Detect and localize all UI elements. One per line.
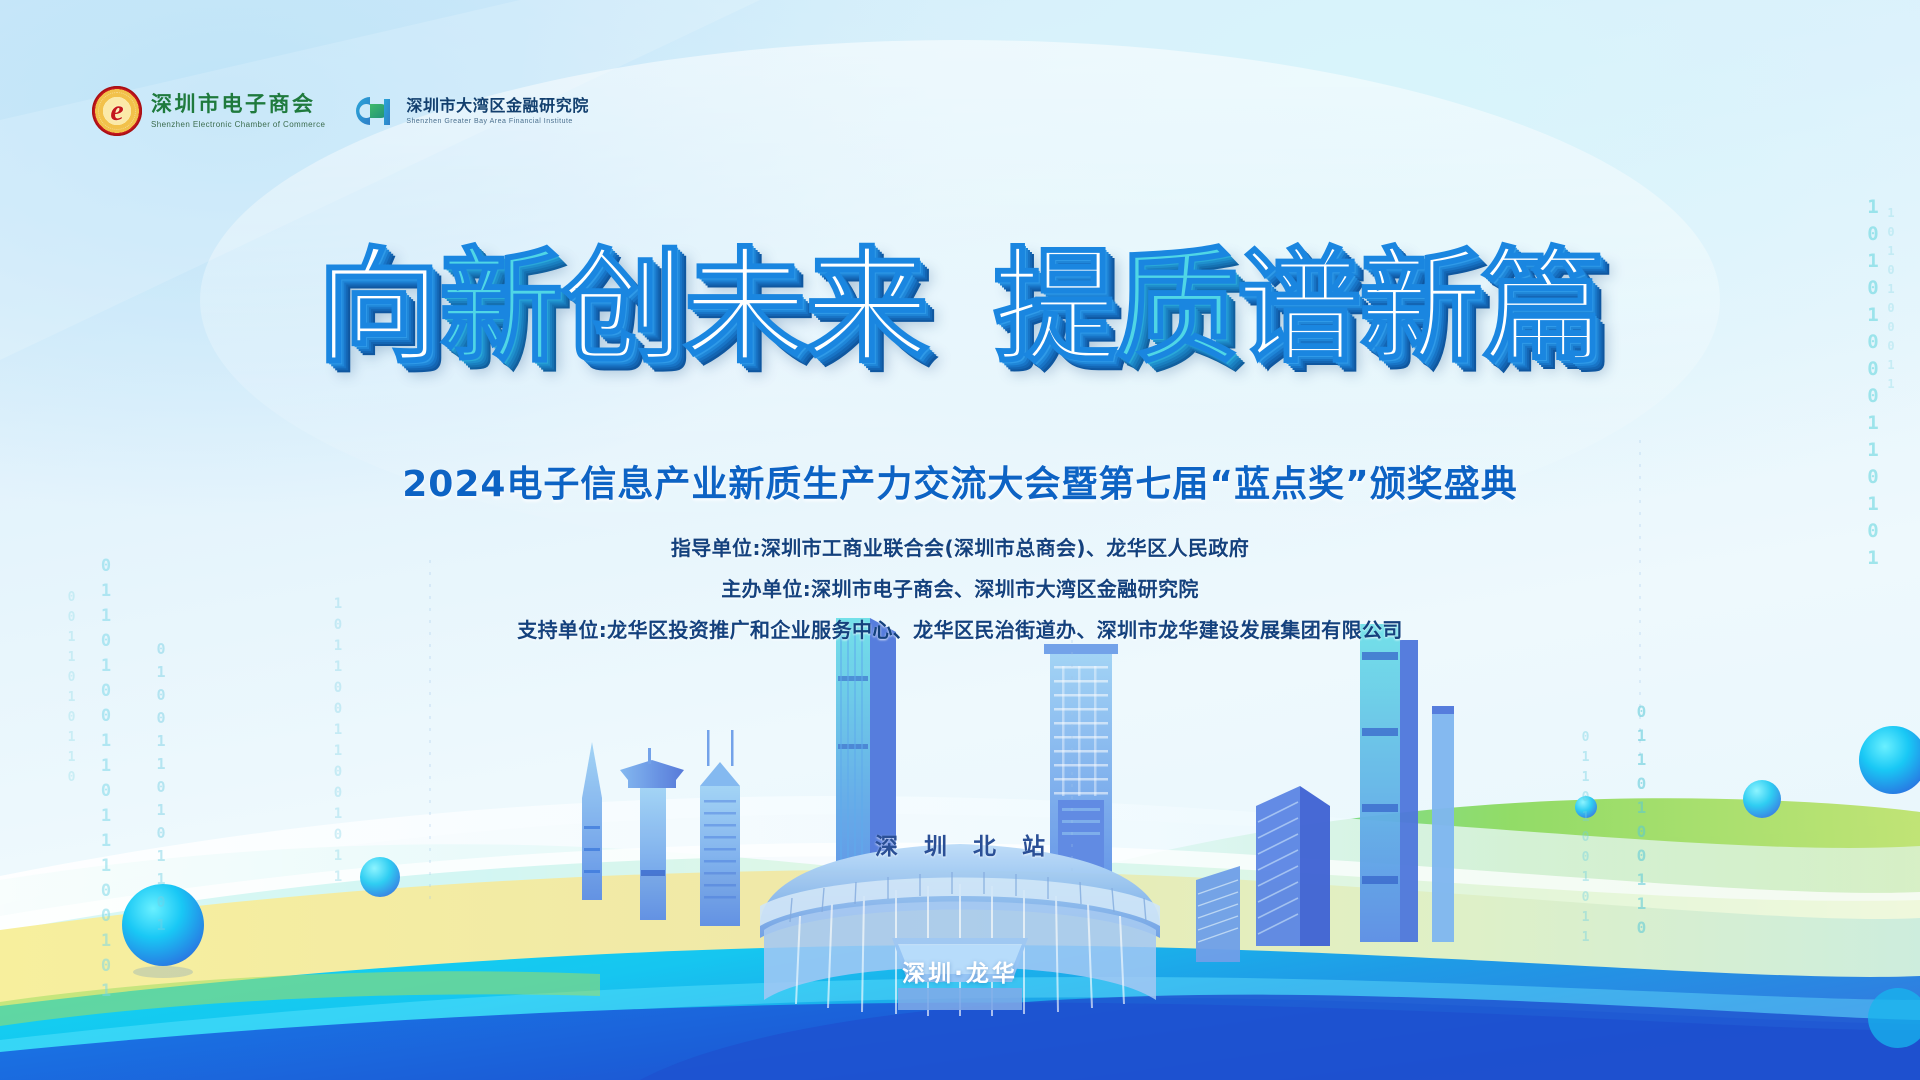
organizer-line-host: 主办单位:深圳市电子商会、深圳市大湾区金融研究院 <box>0 579 1920 599</box>
title-char: 新 <box>1359 246 1483 370</box>
gbi-monogram-icon <box>351 91 397 131</box>
binary-stream-3: 0100110101101 <box>152 640 170 939</box>
logo-1-name-zh: 深圳市电子商会 <box>151 93 325 116</box>
organizer-line-support: 支持单位:龙华区投资推广和企业服务中心、龙华区民治街道办、深圳市龙华建设发展集团… <box>0 620 1920 640</box>
logo-gba-financial-institute: 深圳市大湾区金融研究院 Shenzhen Greater Bay Area Fi… <box>351 91 589 131</box>
title-char: 未 <box>683 246 807 370</box>
circular-seal-icon: e <box>92 86 142 136</box>
title-char: 新 <box>439 246 563 370</box>
logo-shenzhen-electronic-chamber: e 深圳市电子商会 Shenzhen Electronic Chamber of… <box>92 86 325 136</box>
banner-canvas: 10101000110101 011010011011100101 010011… <box>0 0 1920 1080</box>
main-title: 向新创未来提质谱新篇 <box>0 246 1920 370</box>
logo-2-name-zh: 深圳市大湾区金融研究院 <box>406 97 589 115</box>
logo-1-name-en: Shenzhen Electronic Chamber of Commerce <box>151 120 325 129</box>
station-label: 深 圳 北 站 <box>0 827 1920 861</box>
title-char: 质 <box>1115 246 1239 370</box>
subtitle: 2024电子信息产业新质生产力交流大会暨第七届“蓝点奖”颁奖盛典 <box>0 455 1920 507</box>
title-char: 向 <box>317 246 441 370</box>
organizer-block: 指导单位:深圳市工商业联合会(深圳市总商会)、龙华区人民政府 主办单位:深圳市电… <box>0 538 1920 661</box>
title-char: 谱 <box>1237 246 1361 370</box>
seal-glyph: e <box>92 86 142 136</box>
title-char: 提 <box>993 246 1117 370</box>
title-char: 来 <box>805 246 929 370</box>
footer-location: 深圳·龙华 <box>0 954 1920 988</box>
title-char: 篇 <box>1481 246 1605 370</box>
title-char: 创 <box>561 246 685 370</box>
binary-stream-5: 0110100110 <box>1632 702 1651 942</box>
logo-bar: e 深圳市电子商会 Shenzhen Electronic Chamber of… <box>92 86 589 136</box>
logo-2-name-en: Shenzhen Greater Bay Area Financial Inst… <box>406 118 589 125</box>
organizer-line-guidance: 指导单位:深圳市工商业联合会(深圳市总商会)、龙华区人民政府 <box>0 538 1920 558</box>
